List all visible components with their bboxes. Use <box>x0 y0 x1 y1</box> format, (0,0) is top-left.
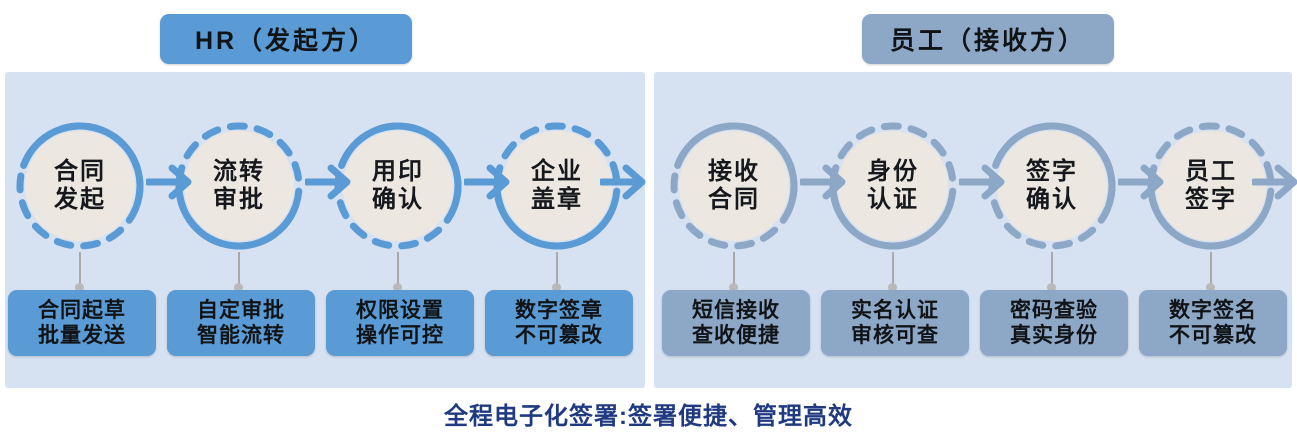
arrow-icon-employee-1 <box>800 160 848 204</box>
step-line-2: 签字 <box>1185 186 1237 214</box>
step-line-2: 审批 <box>213 186 265 214</box>
tag-line-1: 权限设置 <box>356 298 444 323</box>
step-circle-hr-1[interactable]: 合同 发起 <box>12 118 148 254</box>
header-pill-employee[interactable]: 员工（接收方） <box>862 14 1114 64</box>
tag-line-1: 数字签章 <box>515 298 603 323</box>
step-line-2: 合同 <box>708 186 760 214</box>
tag-box-employee-3[interactable]: 密码查验 真实身份 <box>980 290 1128 356</box>
tag-box-employee-2[interactable]: 实名认证 审核可查 <box>821 290 969 356</box>
tag-box-employee-4[interactable]: 数字签名 不可篡改 <box>1139 290 1287 356</box>
arrow-icon-hr-out <box>600 160 648 204</box>
step-line-1: 接收 <box>708 158 760 186</box>
step-line-1: 合同 <box>54 158 106 186</box>
header-pill-hr-label: HR（发起方） <box>195 21 377 57</box>
header-pill-employee-label: 员工（接收方） <box>890 21 1086 57</box>
arrow-icon-hr-3 <box>464 160 512 204</box>
step-line-1: 签字 <box>1026 158 1078 186</box>
tag-line-2: 智能流转 <box>197 323 285 348</box>
tag-line-2: 查收便捷 <box>692 323 780 348</box>
arrow-icon-hr-2 <box>305 160 353 204</box>
tag-line-2: 批量发送 <box>38 323 126 348</box>
arrow-icon-hr-1 <box>146 160 194 204</box>
tag-line-2: 不可篡改 <box>1169 323 1257 348</box>
tag-line-1: 自定审批 <box>197 298 285 323</box>
step-circle-employee-1[interactable]: 接收 合同 <box>666 118 802 254</box>
tag-line-1: 数字签名 <box>1169 298 1257 323</box>
tag-line-2: 不可篡改 <box>515 323 603 348</box>
tag-box-hr-2[interactable]: 自定审批 智能流转 <box>167 290 315 356</box>
tag-box-hr-4[interactable]: 数字签章 不可篡改 <box>485 290 633 356</box>
arrow-icon-employee-3 <box>1118 160 1166 204</box>
step-line-1: 用印 <box>372 158 424 186</box>
step-line-1: 企业 <box>531 158 583 186</box>
step-line-1: 身份 <box>867 158 919 186</box>
step-line-2: 认证 <box>867 186 919 214</box>
step-line-1: 流转 <box>213 158 265 186</box>
tag-box-employee-1[interactable]: 短信接收 查收便捷 <box>662 290 810 356</box>
step-line-1: 员工 <box>1185 158 1237 186</box>
tag-box-hr-1[interactable]: 合同起草 批量发送 <box>8 290 156 356</box>
step-line-2: 确认 <box>1026 186 1078 214</box>
tag-box-hr-3[interactable]: 权限设置 操作可控 <box>326 290 474 356</box>
tag-line-2: 审核可查 <box>851 323 939 348</box>
tag-line-1: 合同起草 <box>38 298 126 323</box>
flow-diagram: HR（发起方） 员工（接收方） 合同 发起 流转 审批 <box>0 0 1297 441</box>
summary-caption: 全程电子化签署:签署便捷、管理高效 <box>0 396 1297 431</box>
step-text: 接收 合同 <box>666 118 802 254</box>
step-text: 合同 发起 <box>12 118 148 254</box>
tag-line-1: 密码查验 <box>1010 298 1098 323</box>
arrow-icon-employee-2 <box>959 160 1007 204</box>
tag-line-1: 短信接收 <box>692 298 780 323</box>
step-line-2: 盖章 <box>531 186 583 214</box>
tag-line-1: 实名认证 <box>851 298 939 323</box>
step-line-2: 确认 <box>372 186 424 214</box>
tag-line-2: 操作可控 <box>356 323 444 348</box>
tag-line-2: 真实身份 <box>1010 323 1098 348</box>
header-pill-hr[interactable]: HR（发起方） <box>160 14 412 64</box>
arrow-icon-employee-out <box>1252 160 1297 204</box>
step-line-2: 发起 <box>54 186 106 214</box>
